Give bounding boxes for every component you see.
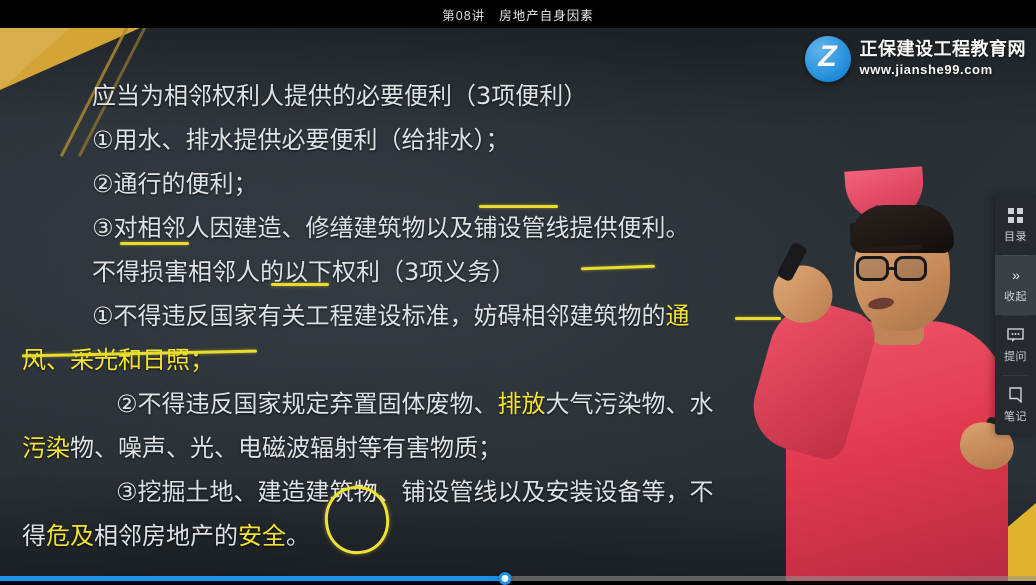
glasses-left-lens [856, 256, 889, 281]
slide-line-text: ②不得违反国家规定弃置固体废物、 [116, 390, 498, 418]
slide-line: ①不得违反国家有关工程建设标准，妨碍相邻建筑物的通 [0, 294, 820, 338]
annotation-underline [271, 283, 329, 286]
rail-item-ask[interactable]: 提问 [995, 315, 1036, 375]
slide-highlight-text: 排放 [498, 390, 546, 418]
slide-line-text: ③挖掘土地、建造建筑物、铺设管线以及安装设备等，不 [116, 478, 714, 506]
speech-bubble-icon [1007, 326, 1024, 344]
slide-line: 得危及相邻房地产的安全。 [0, 514, 820, 558]
slide-line: ③挖掘土地、建造建筑物、铺设管线以及安装设备等，不 [0, 470, 820, 514]
logo-mark-icon: Z [805, 36, 851, 82]
slide-line: ①用水、排水提供必要便利（给排水）； [0, 118, 820, 162]
slide-line-text: ②通行的便利； [92, 170, 258, 198]
rail-item-collapse[interactable]: » 收起 [995, 255, 1036, 315]
progress-handle[interactable] [498, 572, 511, 585]
logo-url: www.jianshe99.com [860, 63, 1027, 77]
title-bar: 第08讲 房地产自身因素 [0, 0, 1036, 28]
grid-icon [1008, 206, 1023, 224]
slide-line-text: 。 [286, 522, 310, 550]
tool-rail[interactable]: 目录 » 收起 提问 笔记 [995, 195, 1036, 435]
slide-line: 污染物、噪声、光、电磁波辐射等有害物质； [0, 426, 820, 470]
logo-brand-name: 正保建设工程教育网 [860, 41, 1027, 60]
logo-letter: Z [818, 42, 836, 72]
rail-item-notes[interactable]: 笔记 [995, 375, 1036, 435]
rail-item-contents[interactable]: 目录 [995, 195, 1036, 255]
slide-line: 应当为相邻权利人提供的必要便利（3项便利） [0, 74, 820, 118]
slide-line-text: 物、噪声、光、电磁波辐射等有害物质； [70, 434, 502, 462]
rail-item-label: 目录 [1004, 228, 1027, 244]
slide-line: 风、采光和日照； [0, 338, 820, 382]
slide-line-text: ①不得违反国家有关工程建设标准，妨碍相邻建筑物的 [92, 302, 666, 330]
rail-item-label: 收起 [1004, 288, 1027, 304]
slide-line: 不得损害相邻人的以下权利（3项义务） [0, 250, 820, 294]
note-icon [1008, 386, 1023, 404]
annotation-underline [120, 242, 189, 245]
slide-highlight-text: 安全 [238, 522, 286, 550]
page-title: 房地产自身因素 [499, 5, 594, 24]
slide-line-text: 大气污染物、水 [546, 390, 714, 418]
glasses-bridge [888, 267, 896, 270]
lecture-number: 第08讲 [442, 5, 485, 24]
slide-highlight-text: 风、采光和日照 [22, 346, 190, 374]
video-stage[interactable]: 应当为相邻权利人提供的必要便利（3项便利） ①用水、排水提供必要便利（给排水）；… [0, 28, 1036, 581]
annotation-underline [735, 317, 781, 320]
slide-line: ②不得违反国家规定弃置固体废物、排放大气污染物、水 [0, 382, 820, 426]
chevron-double-right-icon: » [1012, 266, 1019, 284]
rail-item-label: 提问 [1004, 348, 1027, 364]
slide-line-text: 不得损害相邻人的以下权利（3项义务） [92, 258, 515, 286]
glasses-right-lens [894, 256, 927, 281]
slide-line: ②通行的便利； [0, 162, 820, 206]
slide-text-body: 应当为相邻权利人提供的必要便利（3项便利） ①用水、排水提供必要便利（给排水）；… [0, 28, 820, 581]
brand-logo: Z 正保建设工程教育网 www.jianshe99.com [805, 36, 1027, 82]
slide-line-text: ③对相邻人因建造、修缮建筑物以及铺设管线提供便利。 [92, 214, 690, 242]
video-progress-bar[interactable] [0, 576, 1036, 581]
slide-highlight-text: 污染 [22, 434, 70, 462]
annotation-underline [479, 205, 558, 208]
slide-highlight-text: 危及 [46, 522, 94, 550]
slide-line-text: 相邻房地产的 [94, 522, 238, 550]
slide-line-text: 得 [22, 522, 46, 550]
slide-highlight-text: 通 [666, 302, 690, 330]
progress-fill [0, 576, 505, 581]
slide-line-text: ①用水、排水提供必要便利（给排水）； [92, 126, 510, 154]
slide-line-text: 应当为相邻权利人提供的必要便利（3项便利） [92, 82, 587, 110]
rail-item-label: 笔记 [1004, 408, 1027, 424]
